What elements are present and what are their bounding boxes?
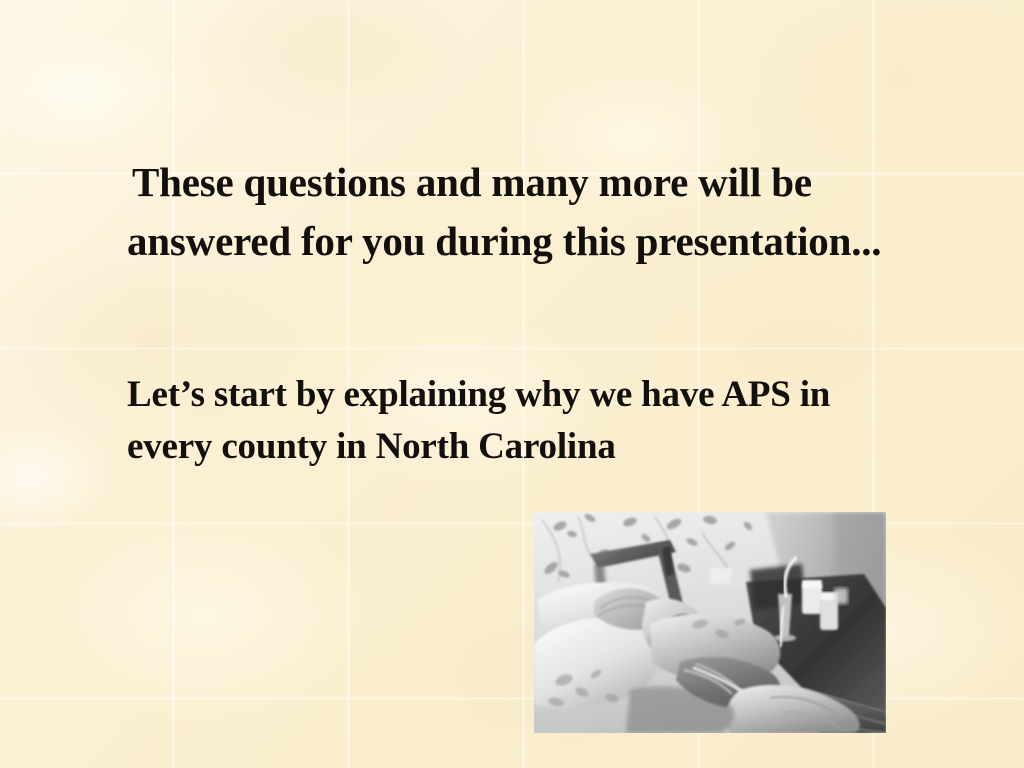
elderly-person-in-bed-photo: [534, 512, 886, 733]
slide-headline: These questions and many more will be an…: [127, 153, 887, 271]
slide-subheadline: Let’s start by explaining why we have AP…: [127, 369, 917, 473]
presentation-slide: These questions and many more will be an…: [0, 0, 1024, 768]
